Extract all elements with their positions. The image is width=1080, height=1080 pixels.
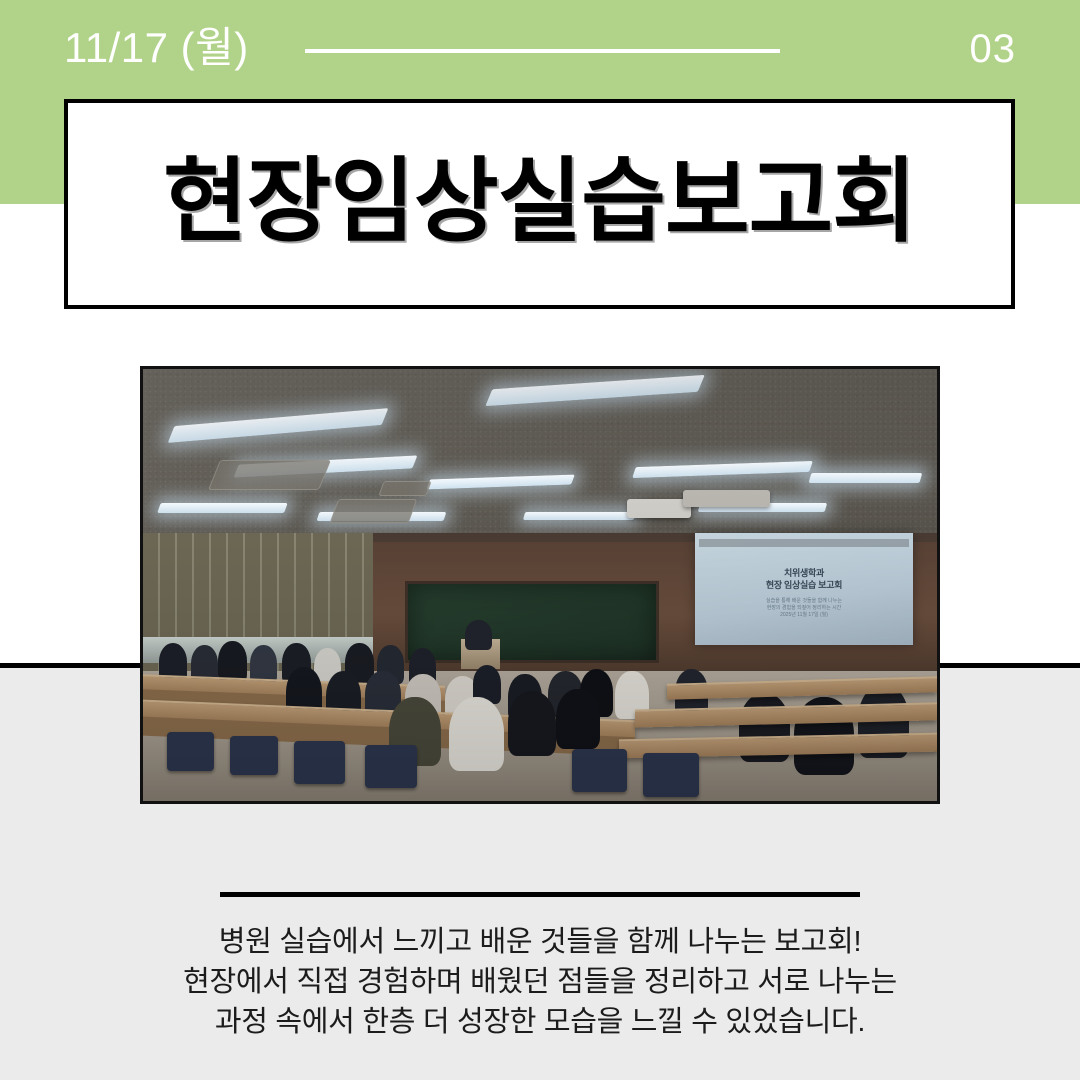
- caption-text: 병원 실습에서 느끼고 배운 것들을 함께 나누는 보고회! 현장에서 직접 경…: [0, 922, 1080, 1042]
- header-rule-line: [305, 49, 780, 53]
- event-photo: 치위생학과 현장 임상실습 보고회 실습을 통해 배운 것들을 함께 나누는 현…: [140, 366, 940, 804]
- header-page-number: 03: [970, 24, 1017, 74]
- caption-line-3: 과정 속에서 한층 더 성장한 모습을 느낄 수 있었습니다.: [0, 1002, 1080, 1042]
- photo-vignette: [143, 369, 937, 801]
- page-title: 현장임상실습보고회: [163, 156, 916, 248]
- caption-line-1: 병원 실습에서 느끼고 배운 것들을 함께 나누는 보고회!: [0, 922, 1080, 962]
- caption-divider-line: [220, 892, 860, 897]
- poster-card: 11/17 (월) 03 현장임상실습보고회: [0, 0, 1080, 1080]
- header-date: 11/17 (월): [64, 22, 249, 74]
- photo-content: 치위생학과 현장 임상실습 보고회 실습을 통해 배운 것들을 함께 나누는 현…: [143, 369, 937, 801]
- title-box: 현장임상실습보고회: [64, 99, 1015, 309]
- caption-line-2: 현장에서 직접 경험하며 배웠던 점들을 정리하고 서로 나누는: [0, 962, 1080, 1002]
